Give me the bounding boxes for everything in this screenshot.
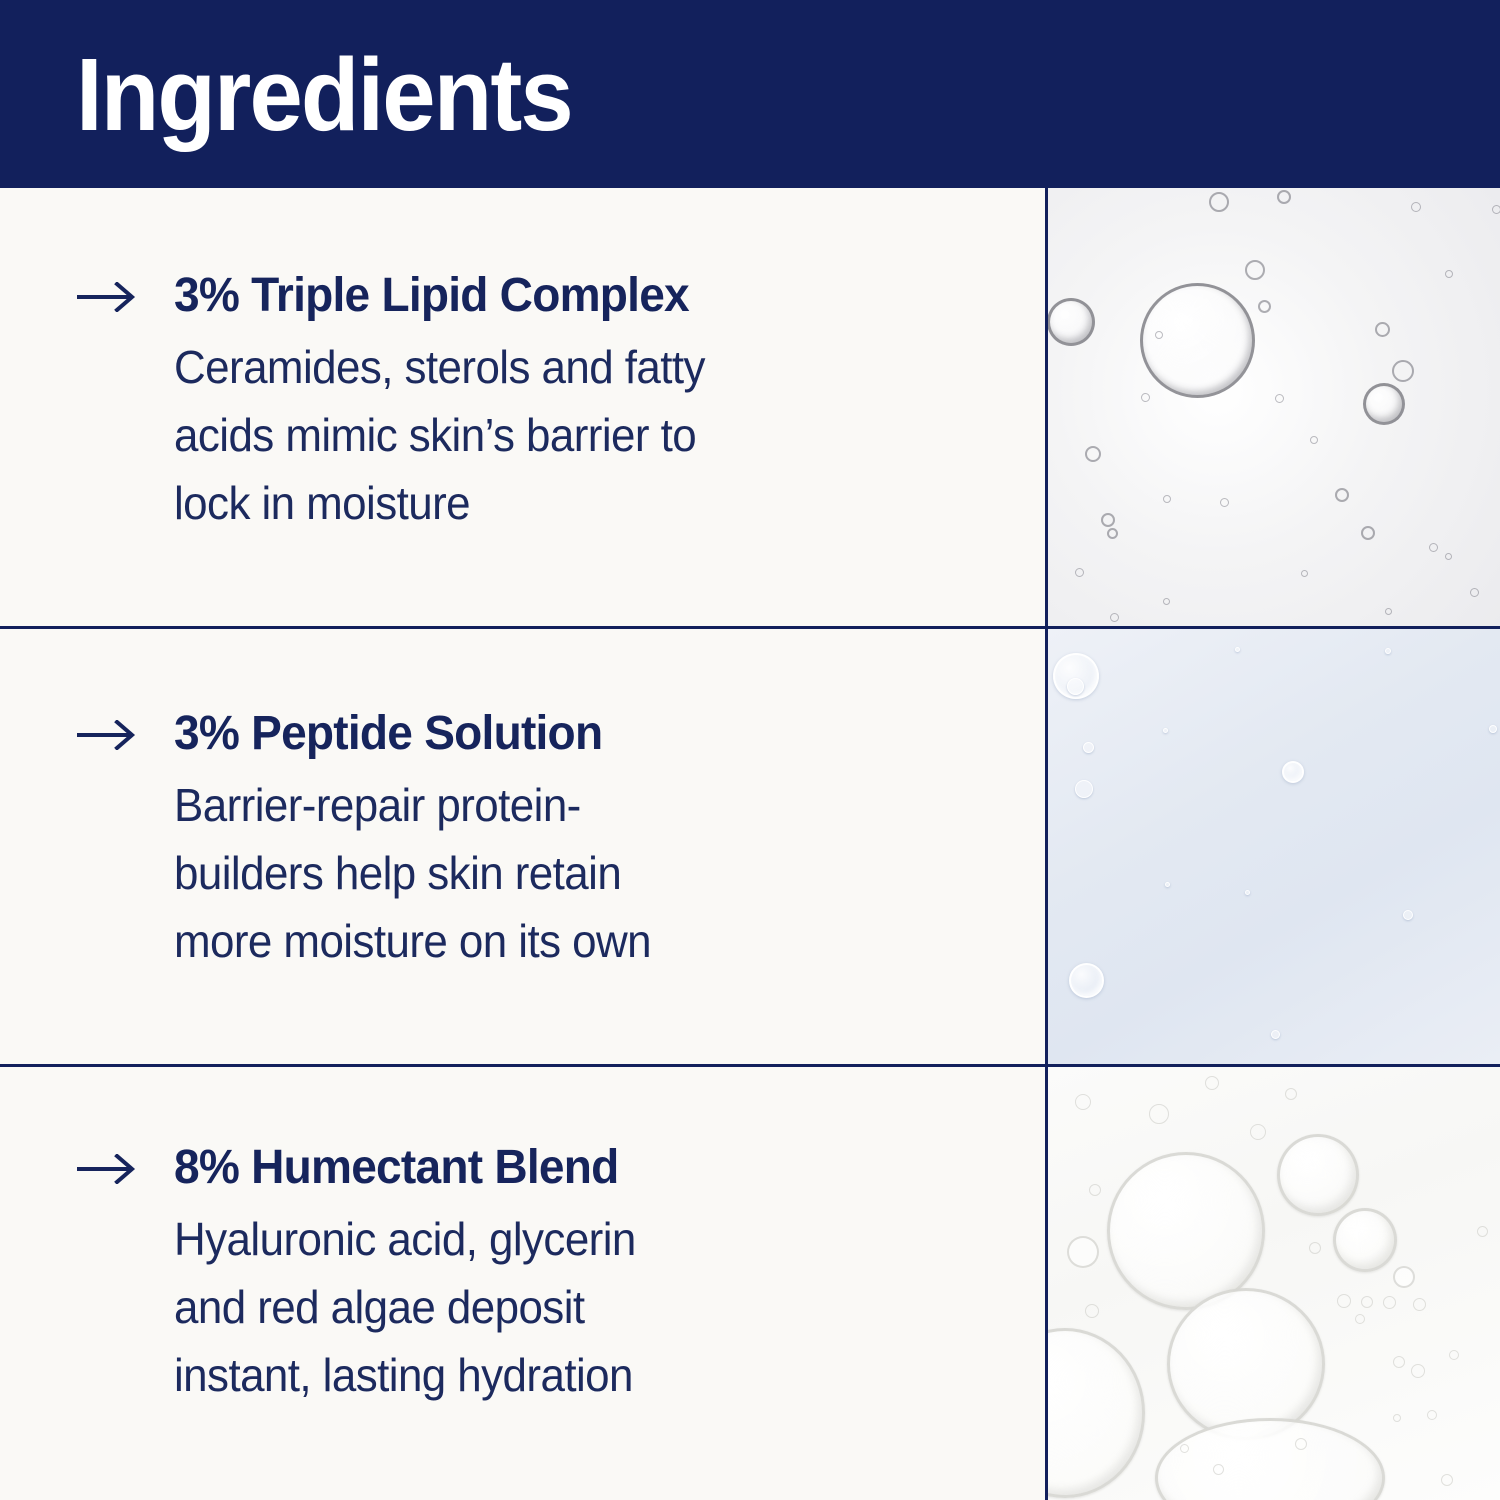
ingredient-title: 8% Humectant Blend bbox=[174, 1140, 619, 1196]
bubble bbox=[1489, 725, 1497, 733]
page-title: Ingredients bbox=[76, 43, 572, 146]
column-divider bbox=[1045, 188, 1048, 1500]
ingredient-text-cell: 8% Humectant Blend Hyaluronic acid, glyc… bbox=[0, 1066, 1045, 1500]
description-line: more moisture on its own bbox=[174, 907, 938, 975]
bubble bbox=[1258, 300, 1271, 313]
ingredient-row: 3% Triple Lipid Complex Ceramides, stero… bbox=[0, 188, 1500, 628]
bubble bbox=[1477, 1226, 1488, 1237]
bubble bbox=[1393, 1356, 1405, 1368]
bubble bbox=[1361, 1296, 1373, 1308]
ingredient-text-cell: 3% Peptide Solution Barrier-repair prote… bbox=[0, 628, 1045, 1066]
bubble bbox=[1083, 742, 1094, 753]
bubble bbox=[1445, 270, 1453, 278]
bubble bbox=[1411, 1364, 1425, 1378]
ingredient-text-cell: 3% Triple Lipid Complex Ceramides, stero… bbox=[0, 188, 1045, 628]
bubble bbox=[1155, 331, 1163, 339]
bubble bbox=[1393, 1414, 1401, 1422]
bubble bbox=[1047, 298, 1095, 346]
ingredient-heading: 8% Humectant Blend bbox=[76, 1140, 985, 1196]
bubble bbox=[1209, 192, 1229, 212]
ingredient-image-2 bbox=[1045, 628, 1500, 1066]
description-line: lock in moisture bbox=[174, 469, 938, 537]
arrow-right-icon bbox=[76, 706, 174, 750]
ingredient-item-2: 3% Peptide Solution Barrier-repair prote… bbox=[76, 706, 985, 975]
bubble bbox=[1085, 1304, 1099, 1318]
bubble bbox=[1333, 1208, 1397, 1272]
bubble bbox=[1235, 647, 1240, 652]
header-band: Ingredients bbox=[0, 0, 1500, 188]
bubble bbox=[1392, 360, 1414, 382]
bubble bbox=[1309, 1242, 1321, 1254]
bubble bbox=[1301, 570, 1308, 577]
bubble bbox=[1245, 260, 1265, 280]
bubble bbox=[1165, 882, 1170, 887]
bubble bbox=[1213, 1464, 1224, 1475]
bubble bbox=[1155, 1418, 1385, 1500]
bubble bbox=[1101, 513, 1115, 527]
bubble bbox=[1053, 653, 1099, 699]
arrow-right-icon bbox=[76, 268, 174, 312]
bubble bbox=[1075, 1094, 1091, 1110]
description-line: and red algae deposit bbox=[174, 1273, 938, 1341]
description-line: Ceramides, sterols and fatty bbox=[174, 333, 938, 401]
bubble bbox=[1107, 528, 1118, 539]
description-line: builders help skin retain bbox=[174, 839, 938, 907]
ingredient-row: 8% Humectant Blend Hyaluronic acid, glyc… bbox=[0, 1066, 1500, 1500]
bubble bbox=[1337, 1294, 1351, 1308]
bubble bbox=[1441, 1474, 1453, 1486]
arrow-right-icon bbox=[76, 1140, 174, 1184]
bubble bbox=[1361, 526, 1375, 540]
ingredient-heading: 3% Peptide Solution bbox=[76, 706, 985, 762]
bubble bbox=[1355, 1314, 1365, 1324]
bubble bbox=[1089, 1184, 1101, 1196]
ingredient-title: 3% Peptide Solution bbox=[174, 706, 602, 762]
bubble bbox=[1107, 1152, 1265, 1310]
bubble bbox=[1383, 1296, 1396, 1309]
ingredient-image-1 bbox=[1045, 188, 1500, 628]
bubble bbox=[1149, 1104, 1169, 1124]
ingredient-item-3: 8% Humectant Blend Hyaluronic acid, glyc… bbox=[76, 1140, 985, 1409]
bubble bbox=[1250, 1124, 1266, 1140]
bubble bbox=[1285, 1088, 1297, 1100]
row-divider bbox=[0, 626, 1500, 629]
bubble bbox=[1282, 761, 1304, 783]
description-line: Hyaluronic acid, glycerin bbox=[174, 1205, 938, 1273]
bubble bbox=[1180, 1444, 1189, 1453]
row-divider bbox=[0, 1064, 1500, 1067]
bubble bbox=[1067, 1236, 1099, 1268]
bubble bbox=[1363, 383, 1405, 425]
bubble bbox=[1140, 283, 1255, 398]
bubble bbox=[1163, 598, 1170, 605]
bubble bbox=[1429, 543, 1438, 552]
bubble bbox=[1110, 613, 1119, 622]
bubble bbox=[1445, 553, 1452, 560]
description-line: Barrier-repair protein- bbox=[174, 771, 938, 839]
bubble bbox=[1085, 446, 1101, 462]
ingredient-title: 3% Triple Lipid Complex bbox=[174, 268, 689, 324]
bubble bbox=[1385, 648, 1391, 654]
bubble bbox=[1075, 568, 1084, 577]
bubble bbox=[1067, 678, 1084, 695]
bubble bbox=[1045, 1328, 1145, 1498]
ingredient-description: Ceramides, sterols and fatty acids mimic… bbox=[174, 333, 938, 537]
bubble bbox=[1413, 1298, 1426, 1311]
description-line: acids mimic skin’s barrier to bbox=[174, 401, 938, 469]
ingredient-item-1: 3% Triple Lipid Complex Ceramides, stero… bbox=[76, 268, 985, 537]
bubble bbox=[1163, 728, 1168, 733]
description-line: instant, lasting hydration bbox=[174, 1341, 938, 1409]
bubble bbox=[1393, 1266, 1415, 1288]
ingredient-image-3 bbox=[1045, 1066, 1500, 1500]
ingredient-heading: 3% Triple Lipid Complex bbox=[76, 268, 985, 324]
bubble bbox=[1470, 588, 1479, 597]
ingredient-description: Barrier-repair protein- builders help sk… bbox=[174, 771, 938, 975]
bubble bbox=[1220, 498, 1229, 507]
bubble bbox=[1295, 1438, 1307, 1450]
bubble bbox=[1385, 608, 1392, 615]
bubble bbox=[1069, 963, 1104, 998]
bubble bbox=[1277, 1134, 1359, 1216]
bubble bbox=[1271, 1030, 1280, 1039]
bubble bbox=[1310, 436, 1318, 444]
bubble bbox=[1275, 394, 1284, 403]
ingredient-row: 3% Peptide Solution Barrier-repair prote… bbox=[0, 628, 1500, 1066]
ingredients-infographic: Ingredients 3% Triple Lipid Complex bbox=[0, 0, 1500, 1500]
bubble bbox=[1205, 1076, 1219, 1090]
bubble bbox=[1403, 910, 1413, 920]
bubble bbox=[1167, 1288, 1325, 1440]
bubble bbox=[1449, 1350, 1459, 1360]
bubble bbox=[1375, 322, 1390, 337]
bubble bbox=[1427, 1410, 1437, 1420]
bubble bbox=[1335, 488, 1349, 502]
bubble bbox=[1245, 890, 1250, 895]
bubble bbox=[1277, 190, 1291, 204]
bubble bbox=[1163, 495, 1171, 503]
bubble bbox=[1492, 205, 1500, 214]
ingredient-description: Hyaluronic acid, glycerin and red algae … bbox=[174, 1205, 938, 1409]
bubble bbox=[1075, 780, 1093, 798]
bubble bbox=[1411, 202, 1421, 212]
bubble bbox=[1141, 393, 1150, 402]
ingredients-grid: 3% Triple Lipid Complex Ceramides, stero… bbox=[0, 188, 1500, 1500]
